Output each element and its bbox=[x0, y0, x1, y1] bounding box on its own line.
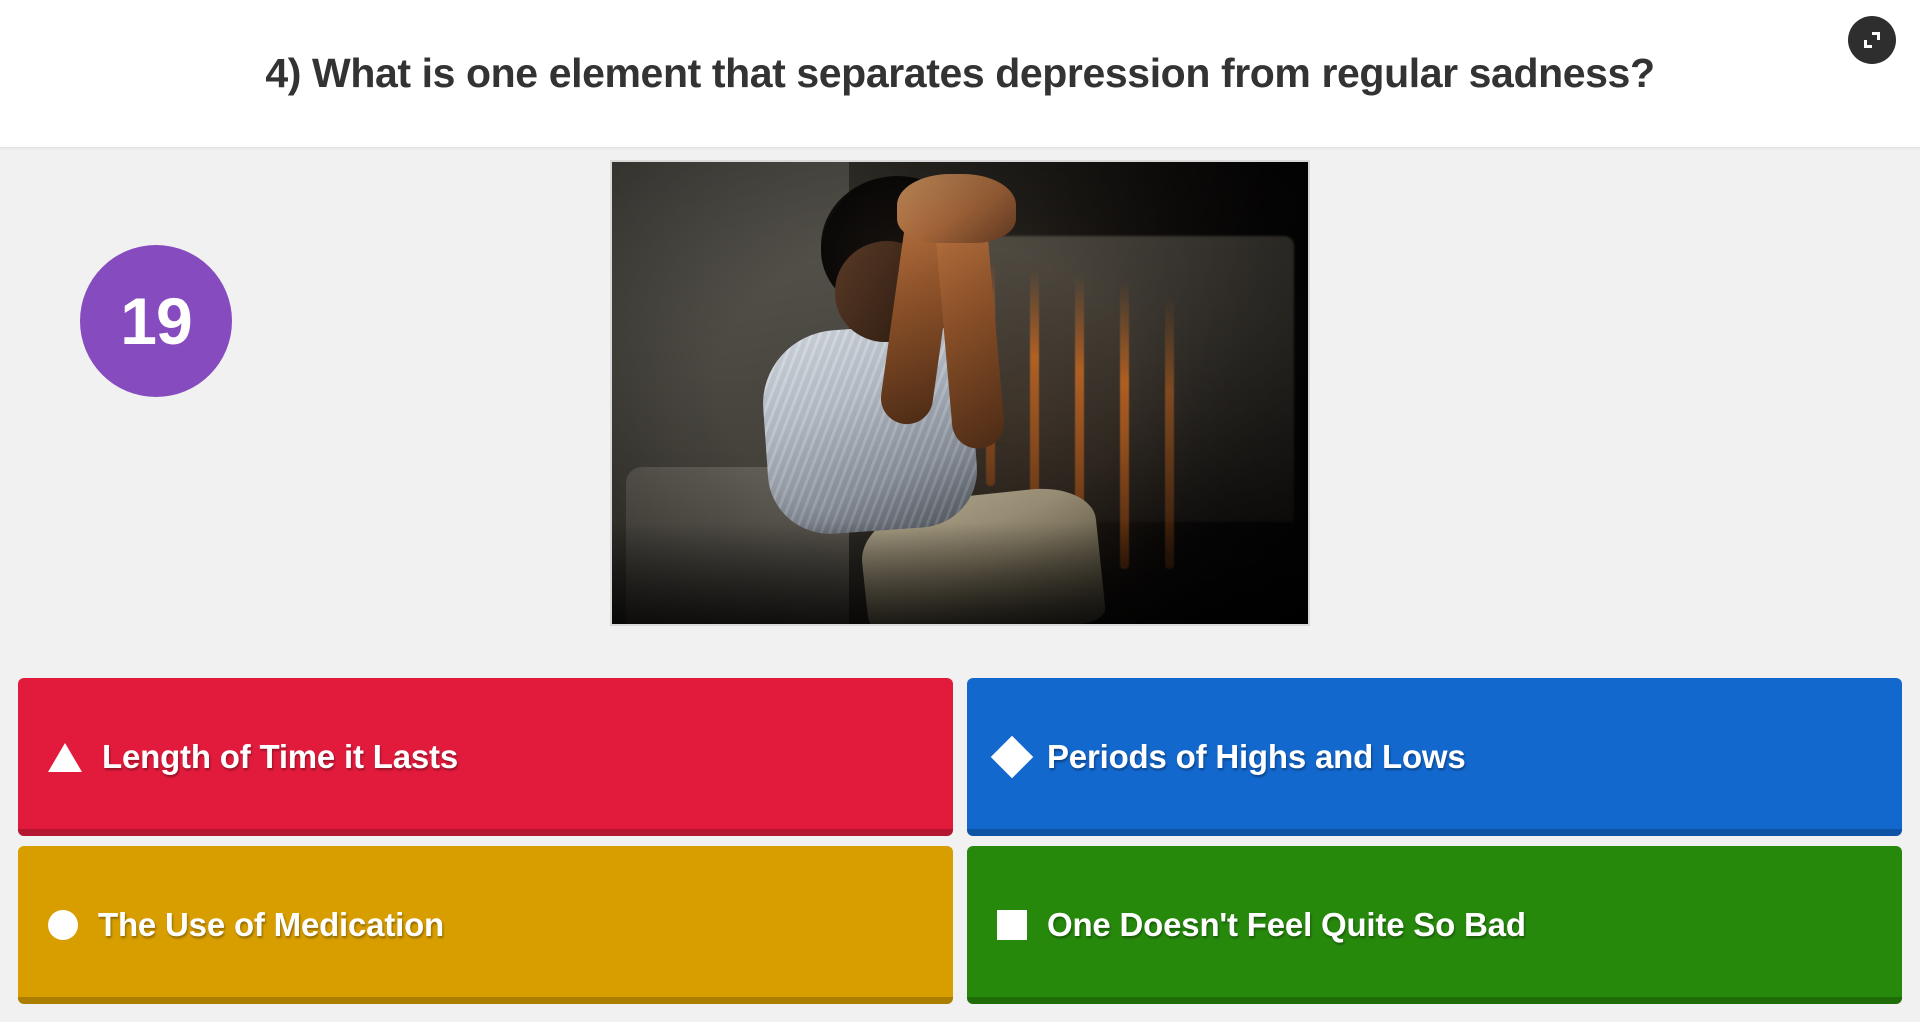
circle-icon bbox=[48, 910, 78, 940]
answer-option-blue[interactable]: Periods of Highs and Lows bbox=[967, 678, 1902, 836]
answer-option-label: Length of Time it Lasts bbox=[102, 738, 458, 776]
answer-option-green[interactable]: One Doesn't Feel Quite So Bad bbox=[967, 846, 1902, 1004]
triangle-icon bbox=[48, 742, 82, 772]
answer-option-red[interactable]: Length of Time it Lasts bbox=[18, 678, 953, 836]
square-icon bbox=[997, 910, 1027, 940]
answer-option-yellow[interactable]: The Use of Medication bbox=[18, 846, 953, 1004]
countdown-timer-value: 19 bbox=[120, 288, 191, 354]
page-title: 4) What is one element that separates de… bbox=[95, 49, 1824, 98]
question-image bbox=[610, 160, 1310, 626]
fullscreen-collapse-icon[interactable] bbox=[1848, 16, 1896, 64]
answer-grid: Length of Time it Lasts Periods of Highs… bbox=[0, 678, 1920, 1022]
answer-option-label: The Use of Medication bbox=[98, 906, 444, 944]
countdown-timer: 19 bbox=[80, 245, 232, 397]
question-header: 4) What is one element that separates de… bbox=[0, 0, 1920, 148]
answer-option-label: One Doesn't Feel Quite So Bad bbox=[1047, 906, 1526, 944]
answer-option-label: Periods of Highs and Lows bbox=[1047, 738, 1466, 776]
question-photo bbox=[612, 162, 1308, 624]
diamond-icon bbox=[991, 736, 1033, 778]
quiz-screen: 4) What is one element that separates de… bbox=[0, 0, 1920, 1022]
question-stage: 19 bbox=[0, 148, 1920, 678]
